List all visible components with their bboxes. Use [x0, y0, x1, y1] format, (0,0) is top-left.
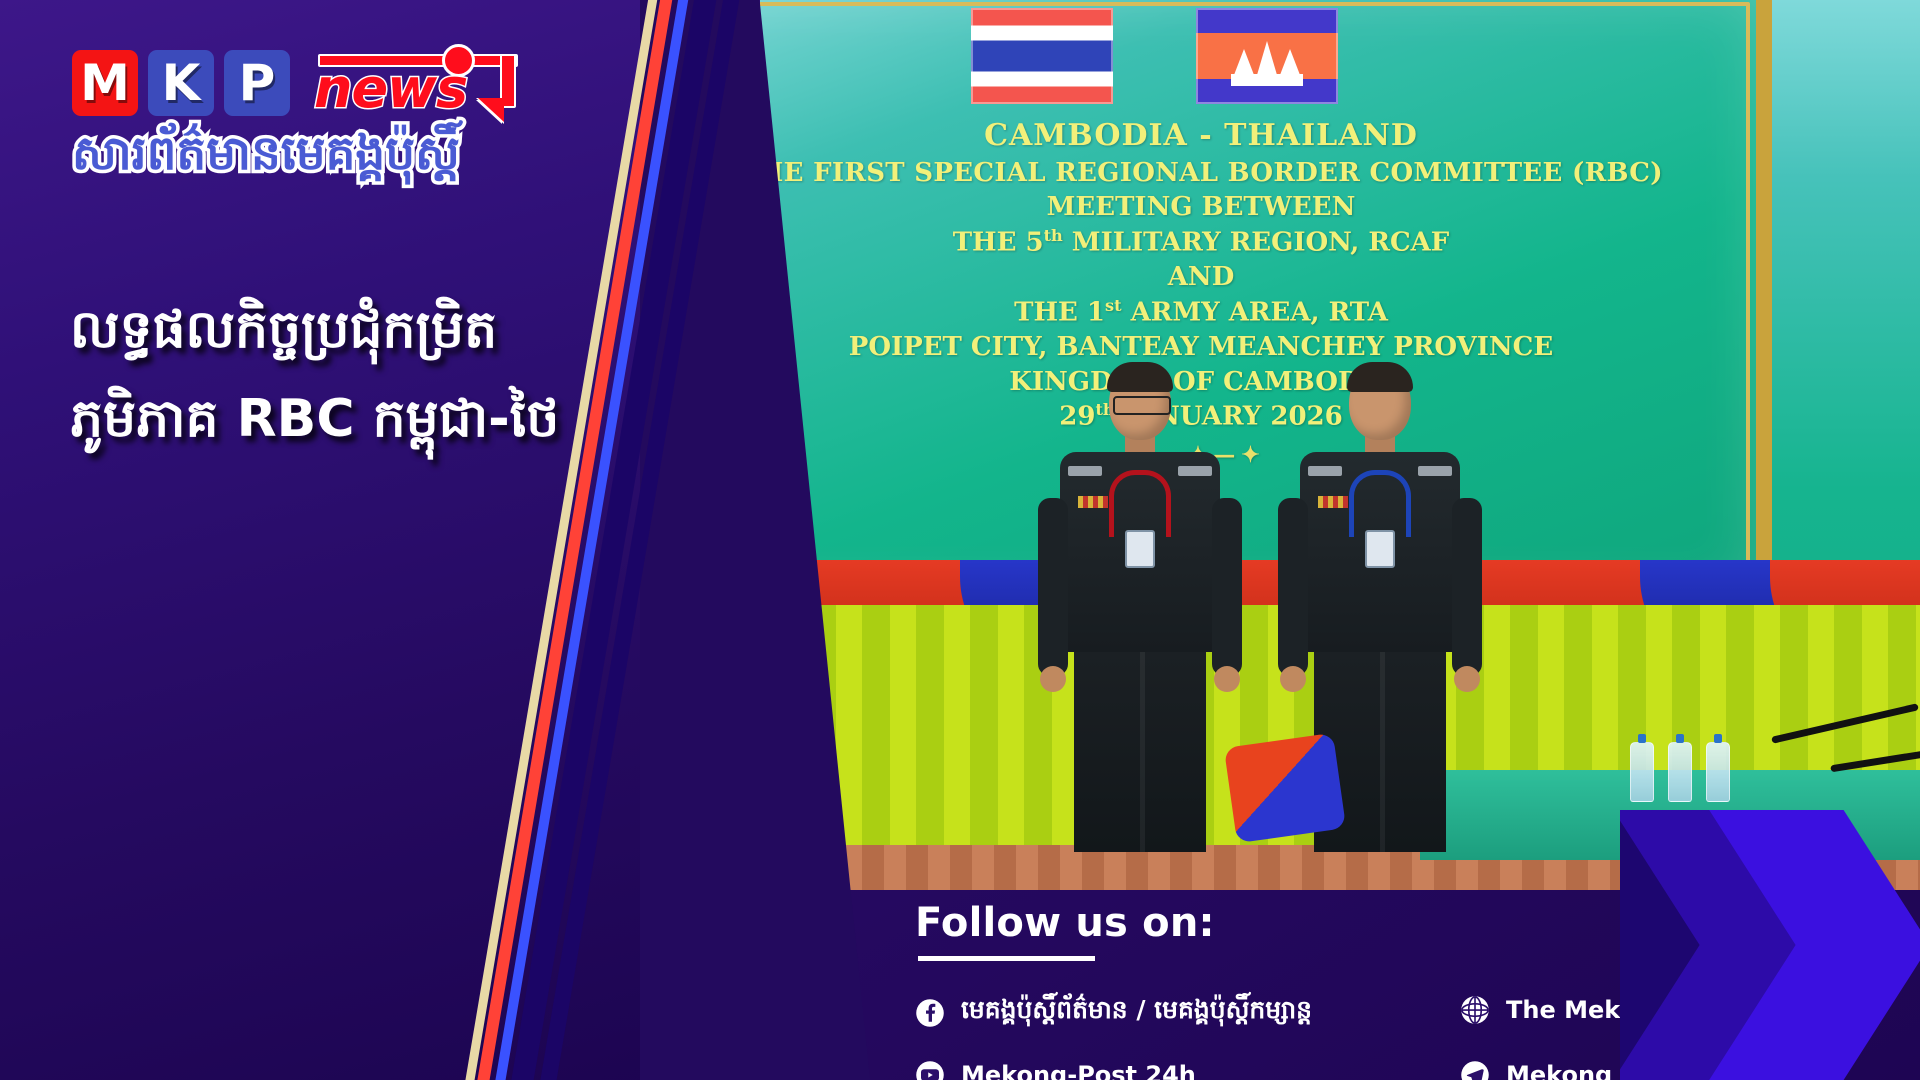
- officer-left: [1060, 366, 1220, 852]
- graphic-canvas: CAMBODIA - THAILAND THE FIRST SPECIAL RE…: [0, 0, 1920, 1080]
- mkp-news-logo[interactable]: M K P news: [72, 48, 632, 118]
- news-photo: CAMBODIA - THAILAND THE FIRST SPECIAL RE…: [760, 0, 1920, 890]
- youtube-icon: [915, 1060, 945, 1080]
- glasses-icon: [1113, 396, 1171, 415]
- backdrop-frame: CAMBODIA - THAILAND THE FIRST SPECIAL RE…: [760, 0, 1772, 612]
- facebook-icon: [915, 998, 945, 1028]
- angkor-base: [1231, 74, 1303, 86]
- folded-flag: [1224, 733, 1346, 843]
- news-word: news: [314, 62, 467, 116]
- headline-line-1: លទ្ធផលកិច្ចប្រជុំកម្រិត: [70, 286, 630, 375]
- angkor-wat-icon: [1234, 41, 1300, 75]
- officer-uniform: [1060, 452, 1220, 652]
- news-arrow-icon: [478, 98, 504, 122]
- social-youtube-label: Mekong-Post 24h: [961, 1061, 1196, 1080]
- headline-line-2: ភូមិភាគ RBC កម្ពុជា-ថៃ: [70, 375, 630, 464]
- follow-underline: [918, 956, 1095, 961]
- officer-head: [1109, 366, 1171, 440]
- follow-us-label: Follow us on:: [915, 900, 1215, 946]
- chevron-decoration: [1620, 810, 1920, 1080]
- water-bottles: [1630, 742, 1730, 802]
- banner-line-4: THE 5th MILITARY REGION, RCAF: [760, 225, 1676, 260]
- banner-line-5: AND: [760, 260, 1676, 295]
- banner-line-7: POIPET CITY, BANTEAY MEANCHEY PROVINCE: [760, 330, 1676, 365]
- logo-tile-m: M: [72, 50, 138, 116]
- banner-line-6: THE 1st ARMY AREA, RTA: [760, 295, 1676, 330]
- globe-icon: [1460, 995, 1490, 1025]
- khmer-subtitle: សារព័ត៌មានមេគង្គប៉ុស្ដិ៍: [72, 128, 460, 180]
- id-badge: [1365, 530, 1395, 568]
- banner-line-3: MEETING BETWEEN: [760, 190, 1676, 225]
- telegram-icon: [1460, 1060, 1490, 1080]
- lanyard: [1109, 470, 1171, 537]
- id-badge: [1125, 530, 1155, 568]
- logo-tile-k: K: [148, 50, 214, 116]
- banner-line-2: THE FIRST SPECIAL REGIONAL BORDER COMMIT…: [760, 156, 1676, 191]
- social-youtube[interactable]: Mekong-Post 24h: [915, 1060, 1196, 1080]
- officer-head: [1349, 366, 1411, 440]
- social-facebook-label: មេគង្គប៉ុស្ដិ៍ព័ត៌មាន / មេគង្គប៉ុស្ដិ៍កម…: [961, 995, 1312, 1031]
- news-wordmark: news: [314, 48, 529, 118]
- cambodia-flag: [1196, 8, 1338, 104]
- banner-line-1: CAMBODIA - THAILAND: [760, 116, 1676, 156]
- officer-uniform: [1300, 452, 1460, 652]
- social-facebook[interactable]: មេគង្គប៉ុស្ដិ៍ព័ត៌មាន / មេគង្គប៉ុស្ដិ៍កម…: [915, 995, 1312, 1031]
- thailand-flag: [971, 8, 1113, 104]
- logo-tile-p: P: [224, 50, 290, 116]
- headline: លទ្ធផលកិច្ចប្រជុំកម្រិត ភូមិភាគ RBC កម្ព…: [70, 286, 630, 465]
